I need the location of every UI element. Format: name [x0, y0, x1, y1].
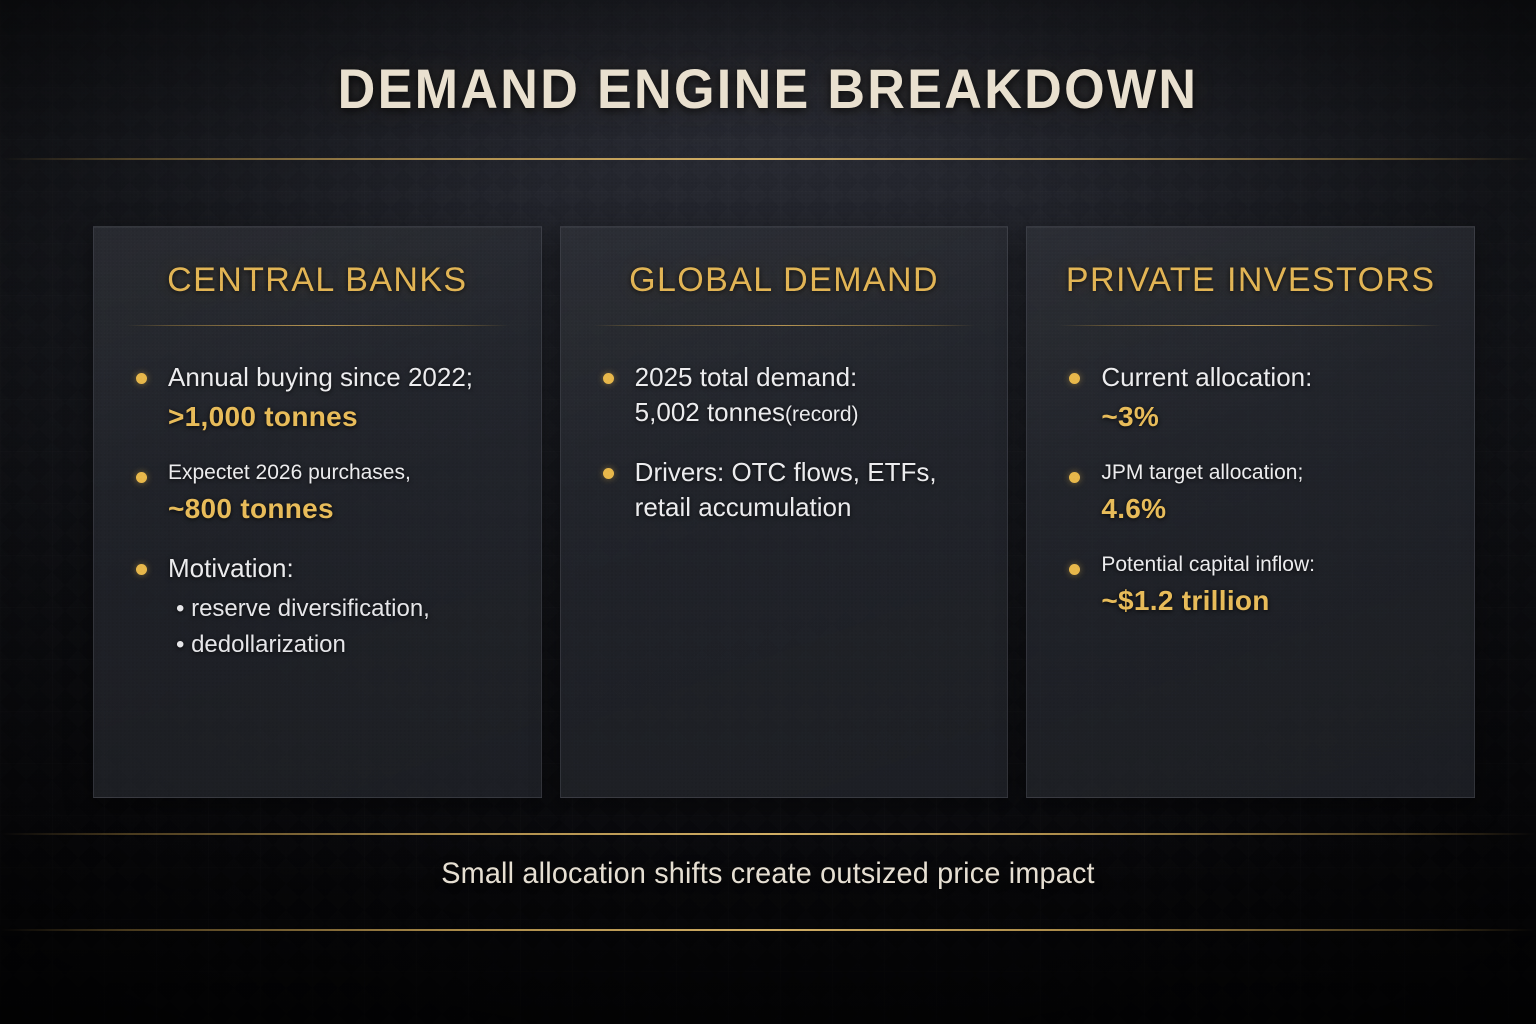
- card-central-banks: CENTRAL BANKS Annual buying since 2022; …: [93, 226, 542, 798]
- list-item: Drivers: OTC flows, ETFs, retail accumul…: [593, 455, 976, 525]
- card-title: CENTRAL BANKS: [126, 263, 509, 299]
- bullet-value: >1,000 tonnes: [168, 401, 509, 433]
- divider-below-footer: [0, 929, 1536, 931]
- card-title: PRIVATE INVESTORS: [1059, 263, 1442, 299]
- bullet-value: ~800 tonnes: [168, 493, 509, 525]
- card-global-demand: GLOBAL DEMAND 2025 total demand: 5,002 t…: [560, 226, 1009, 798]
- bullet-value-plain: 5,002 tonnes: [635, 397, 785, 427]
- footer-takeaway: Small allocation shifts create outsized …: [31, 857, 1506, 891]
- bullet-value: 4.6%: [1101, 493, 1442, 525]
- bullet-dot-icon: [1069, 564, 1080, 575]
- list-item: 2025 total demand: 5,002 tonnes(record): [593, 360, 976, 430]
- bullet-dot-icon: [1069, 373, 1080, 384]
- bullet-text: Annual buying since 2022;: [168, 360, 509, 395]
- bullet-text: Potential capital inflow:: [1101, 551, 1442, 579]
- bullet-text: Drivers: OTC flows, ETFs, retail accumul…: [635, 455, 976, 525]
- card-title: GLOBAL DEMAND: [593, 263, 976, 299]
- card-title-divider: [1059, 325, 1442, 326]
- card-private-investors: PRIVATE INVESTORS Current allocation: ~3…: [1026, 226, 1475, 798]
- bullet-list: Current allocation: ~3% JPM target alloc…: [1059, 360, 1442, 617]
- bullet-text: Current allocation:: [1101, 360, 1442, 395]
- bullet-dot-icon: [136, 373, 147, 384]
- bullet-list: Annual buying since 2022; >1,000 tonnes …: [126, 360, 509, 663]
- list-item: Current allocation: ~3%: [1059, 360, 1442, 433]
- divider-above-footer: [0, 833, 1536, 835]
- bullet-dot-icon: [136, 472, 147, 483]
- list-item: Potential capital inflow: ~$1.2 trillion: [1059, 551, 1442, 617]
- slide-root: DEMAND ENGINE BREAKDOWN CENTRAL BANKS An…: [0, 0, 1536, 1024]
- bullet-text: 2025 total demand:: [635, 360, 976, 395]
- card-title-divider: [593, 325, 976, 326]
- bullet-value: ~3%: [1101, 401, 1442, 433]
- page-title: DEMAND ENGINE BREAKDOWN: [54, 56, 1482, 121]
- bullet-text: Expectet 2026 purchases,: [168, 459, 509, 487]
- list-item: Annual buying since 2022; >1,000 tonnes: [126, 360, 509, 433]
- bullet-dot-icon: [603, 373, 614, 384]
- list-item: Expectet 2026 purchases, ~800 tonnes: [126, 459, 509, 525]
- bullet-text: JPM target allocation;: [1101, 459, 1442, 487]
- sub-list-item: • dedollarization: [168, 627, 509, 663]
- list-item: JPM target allocation; 4.6%: [1059, 459, 1442, 525]
- cards-container: CENTRAL BANKS Annual buying since 2022; …: [93, 226, 1475, 798]
- divider-top: [0, 158, 1536, 160]
- bullet-dot-icon: [136, 564, 147, 575]
- list-item: Motivation: • reserve diversification, •…: [126, 551, 509, 663]
- bullet-note: (record): [785, 403, 859, 426]
- card-title-divider: [126, 325, 509, 326]
- sub-bullet-list: • reserve diversification, • dedollariza…: [168, 591, 509, 662]
- bullet-dot-icon: [1069, 472, 1080, 483]
- bullet-value: ~$1.2 trillion: [1101, 585, 1442, 617]
- bullet-text-line2: 5,002 tonnes(record): [635, 395, 976, 430]
- sub-list-item: • reserve diversification,: [168, 591, 509, 627]
- bullet-dot-icon: [603, 468, 614, 479]
- bullet-list: 2025 total demand: 5,002 tonnes(record) …: [593, 360, 976, 525]
- bullet-text: Motivation:: [168, 551, 509, 586]
